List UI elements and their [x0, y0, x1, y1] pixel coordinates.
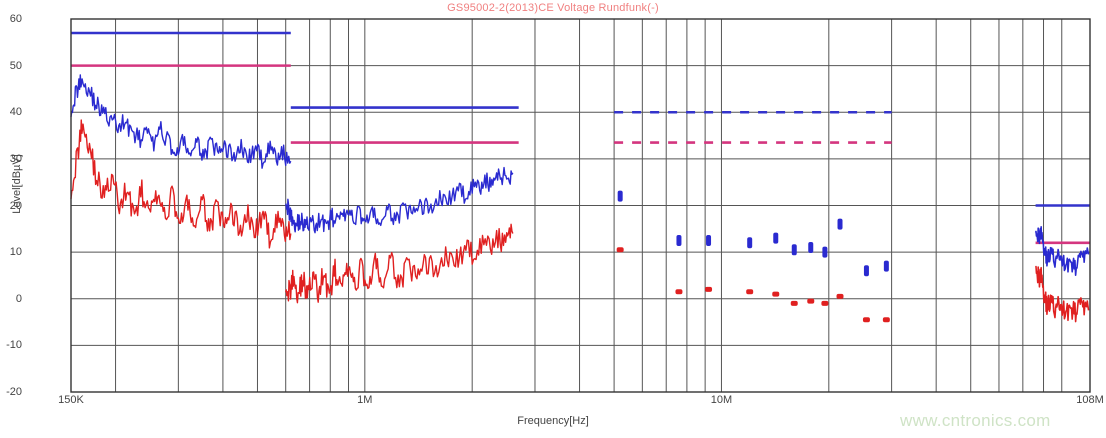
spike-peak-spikes [618, 191, 623, 202]
plot-area [0, 0, 1106, 438]
spike-peak-spikes [838, 219, 843, 230]
spike-peak-spikes [676, 235, 681, 246]
emc-chart: GS95002-2(2013)CE Voltage Rundfunk(-) Le… [0, 0, 1106, 438]
spike-peak-spikes [822, 247, 827, 258]
limit-lines [71, 33, 1090, 243]
spike-average-spikes [837, 294, 844, 299]
spike-average-spikes [883, 317, 890, 322]
spike-peak-spikes [864, 265, 869, 276]
spike-average-spikes [863, 317, 870, 322]
spike-average-spikes [617, 247, 624, 252]
spike-average-spikes [746, 289, 753, 294]
spike-peak-spikes [808, 242, 813, 253]
spike-peak-spikes [706, 235, 711, 246]
trace-peak-measurement-(segment-2) [286, 168, 513, 233]
spike-peak-spikes [884, 261, 889, 272]
spike-peak-spikes [747, 237, 752, 248]
spike-average-spikes [821, 301, 828, 306]
trace-average-measurement-(segment-2) [286, 224, 513, 302]
spike-average-spikes [807, 299, 814, 304]
spike-average-spikes [675, 289, 682, 294]
grid-lines [71, 19, 1090, 392]
spike-peak-spikes [792, 244, 797, 255]
spike-peak-spikes [773, 233, 778, 244]
spike-average-spikes [791, 301, 798, 306]
spike-average-spikes [772, 292, 779, 297]
spike-average-spikes [705, 287, 712, 292]
